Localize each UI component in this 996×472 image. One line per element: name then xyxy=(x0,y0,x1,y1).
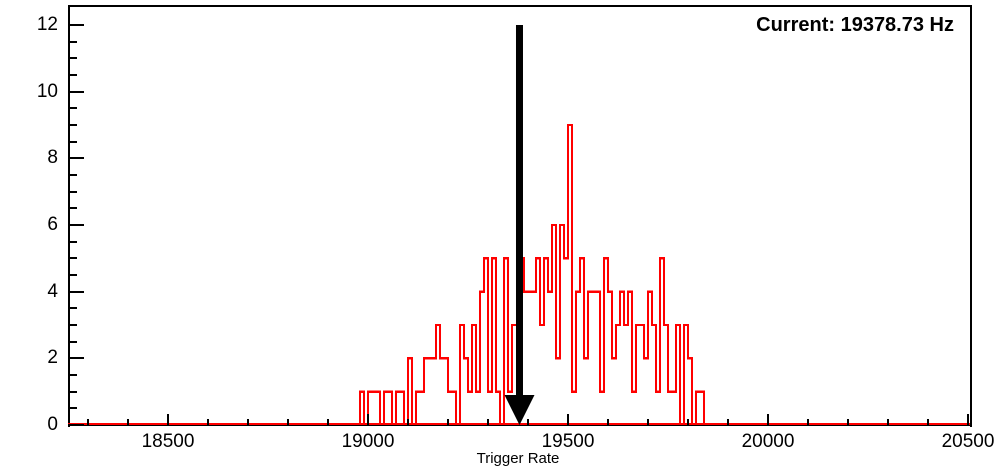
x-tick-label: 20000 xyxy=(742,431,795,453)
x-tick xyxy=(487,419,489,425)
x-tick xyxy=(287,419,289,425)
y-tick xyxy=(68,141,77,143)
y-tick xyxy=(68,157,84,159)
x-tick-label: 19000 xyxy=(342,431,395,453)
y-tick xyxy=(68,191,77,193)
y-tick-label: 2 xyxy=(47,347,58,369)
y-tick xyxy=(68,24,84,26)
y-tick xyxy=(68,391,77,393)
y-tick xyxy=(68,107,77,109)
y-tick xyxy=(68,341,77,343)
y-tick xyxy=(68,224,84,226)
y-tick xyxy=(68,57,77,59)
x-tick xyxy=(607,419,609,425)
x-tick xyxy=(727,419,729,425)
y-tick xyxy=(68,407,77,409)
y-tick xyxy=(68,41,77,43)
x-tick-label: 20500 xyxy=(942,431,995,453)
x-tick xyxy=(807,419,809,425)
y-tick-label: 4 xyxy=(47,281,58,303)
x-tick xyxy=(527,419,529,425)
histogram-series xyxy=(68,5,968,425)
x-tick xyxy=(847,419,849,425)
x-tick xyxy=(967,414,969,425)
y-tick-label: 8 xyxy=(47,147,58,169)
x-tick xyxy=(567,414,569,425)
x-tick xyxy=(887,419,889,425)
x-tick xyxy=(647,419,649,425)
x-tick xyxy=(367,414,369,425)
y-tick-label: 10 xyxy=(37,81,58,103)
root-canvas: 1850019000195002000020500024681012 Trigg… xyxy=(0,0,996,472)
current-rate-readout: Current: 19378.73 Hz xyxy=(756,14,954,37)
x-tick xyxy=(247,419,249,425)
x-tick xyxy=(207,419,209,425)
x-tick xyxy=(927,419,929,425)
x-tick xyxy=(167,414,169,425)
y-tick xyxy=(68,324,77,326)
y-tick xyxy=(68,91,84,93)
y-tick-label: 12 xyxy=(37,14,58,36)
y-tick-label: 0 xyxy=(47,414,58,436)
y-tick xyxy=(68,241,77,243)
x-tick xyxy=(767,414,769,425)
y-tick-label: 6 xyxy=(47,214,58,236)
histogram-outline xyxy=(360,125,708,425)
y-tick xyxy=(68,307,77,309)
y-tick xyxy=(68,174,77,176)
x-tick xyxy=(87,419,89,425)
y-tick xyxy=(68,374,77,376)
y-tick xyxy=(68,124,77,126)
y-tick xyxy=(68,424,84,426)
x-axis-title: Trigger Rate xyxy=(477,450,560,467)
y-tick xyxy=(68,357,84,359)
y-tick xyxy=(68,291,84,293)
x-tick xyxy=(447,419,449,425)
y-tick xyxy=(68,274,77,276)
x-tick-label: 18500 xyxy=(142,431,195,453)
y-tick xyxy=(68,207,77,209)
y-tick xyxy=(68,257,77,259)
x-tick xyxy=(327,419,329,425)
x-tick xyxy=(127,419,129,425)
x-tick xyxy=(687,419,689,425)
x-tick xyxy=(407,419,409,425)
y-tick xyxy=(68,74,77,76)
